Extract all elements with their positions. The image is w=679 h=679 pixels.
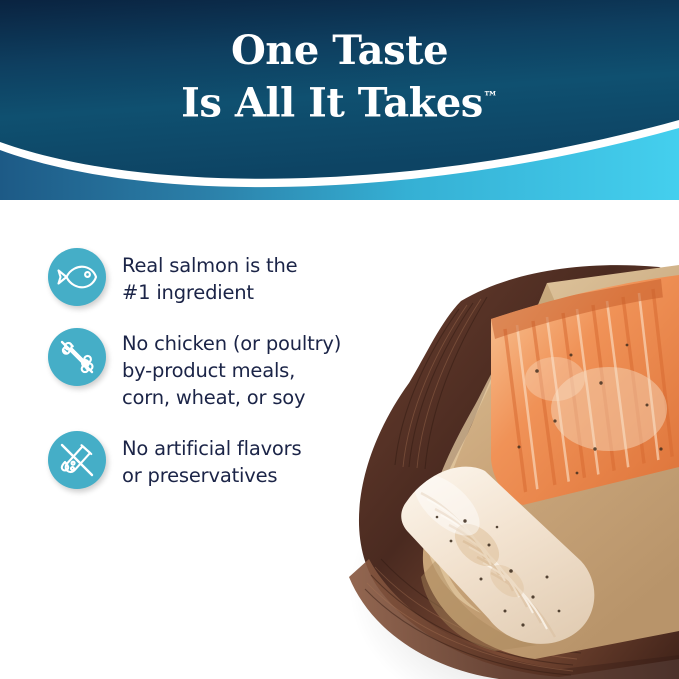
benefit-text-real-salmon: Real salmon is the #1 ingredient: [122, 248, 297, 306]
benefit-item-no-artificial: No artificial flavors or preservatives: [48, 431, 368, 489]
benefit-line: corn, wheat, or soy: [122, 384, 341, 411]
header-banner: One Taste Is All It Takes™: [0, 0, 679, 200]
benefit-line: Real salmon is the: [122, 252, 297, 279]
benefit-text-no-byproduct: No chicken (or poultry) by-product meals…: [122, 328, 341, 411]
benefit-line: No chicken (or poultry): [122, 330, 341, 357]
benefit-line: No artificial flavors: [122, 435, 301, 462]
header-wave-shape: [0, 0, 679, 179]
benefits-list: Real salmon is the #1 ingredient: [48, 248, 368, 511]
benefit-line: #1 ingredient: [122, 279, 297, 306]
benefit-line: or preservatives: [122, 462, 301, 489]
benefit-item-real-salmon: Real salmon is the #1 ingredient: [48, 248, 368, 306]
fish-icon: [48, 248, 106, 306]
no-bone-icon: [48, 328, 106, 386]
benefit-line: by-product meals,: [122, 357, 341, 384]
marketing-product-banner: One Taste Is All It Takes™: [0, 0, 679, 679]
benefit-text-no-artificial: No artificial flavors or preservatives: [122, 431, 301, 489]
benefit-item-no-byproduct: No chicken (or poultry) by-product meals…: [48, 328, 368, 411]
no-test-tube-icon: [48, 431, 106, 489]
